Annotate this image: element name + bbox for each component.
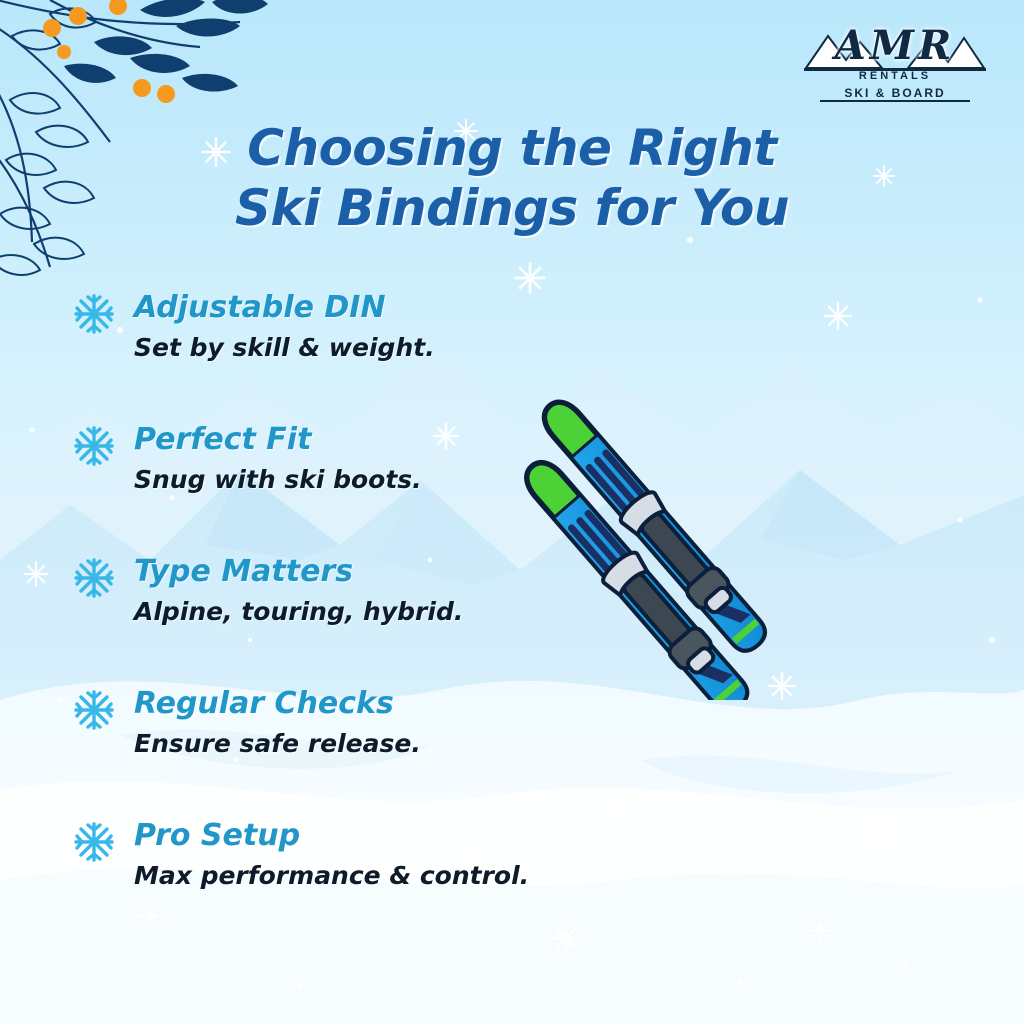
logo-subtitle-rentals: RENTALS bbox=[802, 70, 988, 82]
page-title-line2: Ski Bindings for You bbox=[0, 178, 1024, 238]
feature-title: Type Matters bbox=[134, 552, 353, 592]
feature-description: Snug with ski boots. bbox=[134, 464, 422, 496]
feature-title: Perfect Fit bbox=[134, 420, 311, 460]
snowflake-icon bbox=[72, 424, 116, 468]
feature-title: Regular Checks bbox=[134, 684, 394, 724]
feature-description: Alpine, touring, hybrid. bbox=[134, 596, 463, 628]
ski-illustration bbox=[470, 360, 890, 700]
snowflake-icon bbox=[72, 688, 116, 732]
page-title-line1: Choosing the Right bbox=[247, 119, 776, 177]
logo-wordmark: AMR bbox=[802, 26, 988, 66]
snowflake-icon bbox=[72, 820, 116, 864]
feature-title: Adjustable DIN bbox=[134, 288, 386, 328]
poster: AMR RENTALS SKI & BOARD Choosing the Rig… bbox=[0, 0, 1024, 1024]
snowflake-icon bbox=[72, 556, 116, 600]
page-title: Choosing the Right Ski Bindings for You bbox=[0, 118, 1024, 238]
list-item: Pro Setup Max performance & control. bbox=[72, 816, 592, 913]
feature-description: Max performance & control. bbox=[134, 860, 529, 892]
feature-description: Ensure safe release. bbox=[134, 728, 421, 760]
feature-description: Set by skill & weight. bbox=[134, 332, 435, 364]
logo-subtitle-ski-board: SKI & BOARD bbox=[802, 86, 988, 100]
brand-logo: AMR RENTALS SKI & BOARD bbox=[802, 22, 988, 108]
snowflake-icon bbox=[72, 292, 116, 336]
feature-title: Pro Setup bbox=[134, 816, 300, 856]
